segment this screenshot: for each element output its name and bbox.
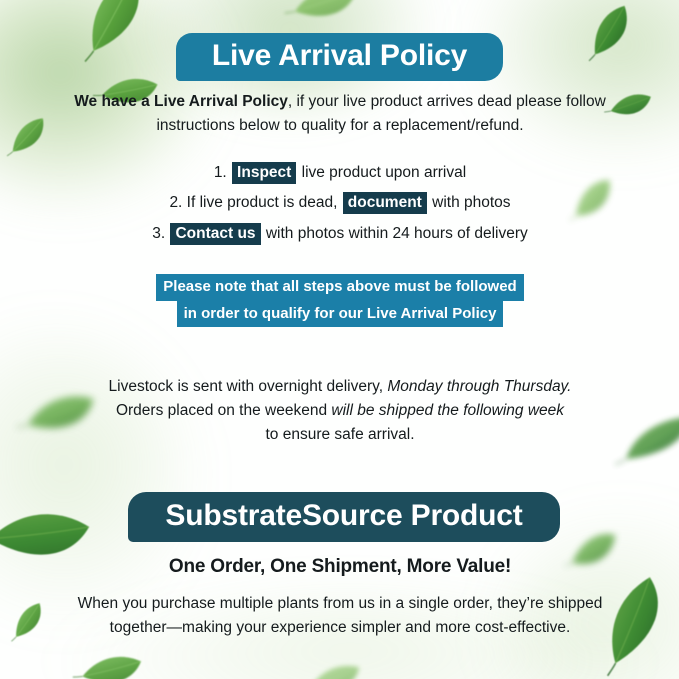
shipping-line-1-normal: Livestock is sent with overnight deliver… xyxy=(109,378,384,395)
policy-step-number: 3. xyxy=(152,225,169,242)
leaf-top-right xyxy=(579,0,642,60)
policy-step-number: 2. xyxy=(169,194,186,211)
product-body-paragraph: When you purchase multiple plants from u… xyxy=(60,592,620,640)
policy-step-3: 3. Contact us with photos within 24 hour… xyxy=(60,223,620,245)
shipping-schedule-paragraph: Livestock is sent with overnight deliver… xyxy=(60,375,620,447)
policy-step-highlight: Inspect xyxy=(232,162,296,184)
policy-step-1: 1. Inspect live product upon arrival xyxy=(60,162,620,184)
leaf-bottom-left xyxy=(79,640,145,679)
live-arrival-policy-title: Live Arrival Policy xyxy=(212,39,467,73)
shipping-line-2-normal: Orders placed on the weekend xyxy=(116,402,327,419)
intro-bold-text: We have a Live Arrival Policy xyxy=(74,93,288,110)
policy-note-block: Please note that all steps above must be… xyxy=(60,274,620,327)
policy-steps-list: 1. Inspect live product upon arrival2. I… xyxy=(60,162,620,253)
leaf-left-bottom-small xyxy=(6,599,50,641)
shipping-line-3: to ensure safe arrival. xyxy=(265,426,414,443)
shipping-line-2-italic: will be shipped the following week xyxy=(331,402,564,419)
leaf-top-center xyxy=(291,0,360,31)
policy-step-2: 2. If live product is dead, document wit… xyxy=(60,192,620,214)
leaf-top-right-edge xyxy=(617,412,679,464)
leaf-bottom-center xyxy=(308,657,363,679)
shipping-line-1-italic: Monday through Thursday. xyxy=(387,378,571,395)
policy-infographic: Live Arrival Policy We have a Live Arriv… xyxy=(0,0,679,679)
leaf-left-small xyxy=(5,114,51,156)
policy-step-highlight: document xyxy=(343,192,427,214)
policy-step-highlight: Contact us xyxy=(170,223,260,245)
policy-note-line-2: in order to qualify for our Live Arrival… xyxy=(177,301,504,328)
policy-step-text-after: with photos within 24 hours of delivery xyxy=(262,225,528,242)
leaf-top-left-large xyxy=(65,0,163,59)
policy-step-text-after: live product upon arrival xyxy=(297,164,466,181)
policy-step-text-after: with photos xyxy=(428,194,511,211)
product-subheading: One Order, One Shipment, More Value! xyxy=(60,556,620,578)
substratesource-product-banner: SubstrateSource Product xyxy=(128,492,560,542)
substratesource-product-title: SubstrateSource Product xyxy=(165,499,522,533)
intro-paragraph: We have a Live Arrival Policy, if your l… xyxy=(60,90,620,138)
policy-step-text-before: If live product is dead, xyxy=(187,194,342,211)
live-arrival-policy-banner: Live Arrival Policy xyxy=(176,33,503,81)
policy-note-line-1: Please note that all steps above must be… xyxy=(156,274,523,301)
policy-step-number: 1. xyxy=(214,164,231,181)
